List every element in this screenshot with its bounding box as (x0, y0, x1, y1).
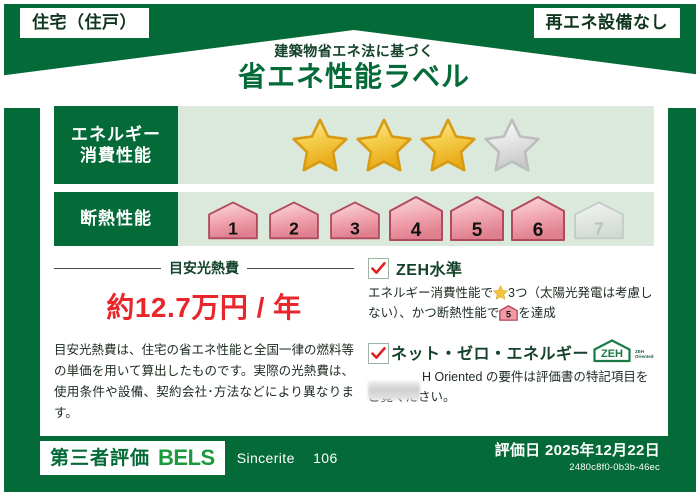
zeh-oriented-line2: Oriented (635, 354, 654, 359)
tag-building-type: 住宅（住戸） (20, 8, 149, 38)
claim-net-zero-title: ネット・ゼロ・エネルギー (391, 340, 589, 364)
evaluation-date: 評価日 2025年12月22日 (495, 443, 660, 460)
star-rating (178, 106, 654, 184)
energy-performance-row: エネルギー 消費性能 (54, 106, 654, 184)
star-empty-icon (483, 117, 541, 173)
claim-zeh-text-1: エネルギー消費性能で (368, 286, 493, 300)
energy-performance-label: 住宅（住戸） 再エネ設備なし 建築物省エネ法に基づく 省エネ性能ラベル エネルギ… (0, 0, 700, 496)
insulation-level-filled: 1 (204, 196, 262, 242)
checkbox-net-zero-energy[interactable] (368, 343, 389, 364)
tag-renewable-equipment: 再エネ設備なし (534, 8, 681, 38)
svg-text:4: 4 (411, 220, 422, 241)
insulation-level-filled: 4 (387, 194, 445, 244)
insulation-level-empty: 7 (570, 196, 628, 242)
svg-text:6: 6 (533, 220, 544, 241)
checkbox-zeh-standard[interactable] (368, 258, 389, 279)
insulation-level-filled: 2 (265, 196, 323, 242)
utility-cost-block: 目安光熱費 約12.7万円 / 年 目安光熱費は、住宅の省エネ性能と全国一律の燃… (54, 254, 354, 404)
inline-star-icon (493, 285, 508, 300)
evaluation-date-label: 評価日 (495, 442, 541, 459)
claim-zeh-text-3: を達成 (518, 306, 556, 320)
redacted-region (368, 381, 420, 400)
utility-cost-heading-text: 目安光熱費 (169, 258, 239, 278)
star-filled-icon (419, 117, 477, 173)
insulation-level-filled: 6 (509, 194, 567, 244)
energy-label-line1: エネルギー (71, 124, 161, 145)
zeh-logo-icon: ZEH (591, 338, 633, 364)
bels-badge-en-label: BELS (158, 447, 215, 469)
bels-badge-jp-label: 第三者評価 (50, 449, 150, 468)
svg-text:1: 1 (228, 219, 238, 239)
evaluation-id: 2480c8f0-0b3b-46ec (495, 462, 660, 473)
builder-name: Sincerite (237, 450, 295, 466)
claim-zeh-standard-title: ZEH水準 (396, 256, 463, 280)
claims-block: ZEH水準 エネルギー消費性能で3つ（太陽光発電は考慮しない）、かつ断熱性能で5… (354, 254, 654, 404)
bels-badge: 第三者評価 BELS (40, 441, 225, 475)
rule-right (247, 268, 354, 269)
svg-text:ZEH: ZEH (601, 348, 623, 360)
star-filled-icon (355, 117, 413, 173)
energy-label-line2: 消費性能 (80, 145, 152, 166)
utility-cost-heading: 目安光熱費 (54, 258, 354, 278)
claim-zeh-standard: ZEH水準 エネルギー消費性能で3つ（太陽光発電は考慮しない）、かつ断熱性能で5… (368, 256, 654, 324)
claim-zeh-standard-head: ZEH水準 (368, 256, 654, 280)
svg-text:2: 2 (289, 219, 299, 239)
insulation-level-scale: 1234567 (178, 192, 654, 246)
utility-cost-amount: 約12.7万円 / 年 (54, 286, 354, 326)
insulation-label-text: 断熱性能 (80, 208, 152, 229)
lower-section: 目安光熱費 約12.7万円 / 年 目安光熱費は、住宅の省エネ性能と全国一律の燃… (54, 254, 654, 404)
insulation-performance-row: 断熱性能 1234567 (54, 192, 654, 246)
label-card: エネルギー 消費性能 断熱性能 1234567 目安光熱費 約12.7万円 / … (40, 96, 668, 436)
evaluation-info: 評価日 2025年12月22日 2480c8f0-0b3b-46ec (495, 443, 660, 473)
svg-text:3: 3 (350, 219, 360, 239)
insulation-level-filled: 3 (326, 196, 384, 242)
svg-text:5: 5 (506, 310, 511, 320)
utility-cost-note: 目安光熱費は、住宅の省エネ性能と全国一律の燃料等の単価を用いて算出したものです。… (54, 340, 354, 424)
star-filled-icon (291, 117, 349, 173)
zeh-oriented-caption: ZEH Oriented (635, 350, 654, 363)
rule-left (54, 268, 161, 269)
svg-text:5: 5 (472, 220, 483, 241)
evaluation-date-value: 2025年12月22日 (545, 442, 660, 459)
inline-house-badge-icon: 5 (499, 305, 518, 321)
insulation-performance-label: 断熱性能 (54, 192, 178, 246)
insulation-level-filled: 5 (448, 194, 506, 244)
footer: 第三者評価 BELS Sincerite 106 評価日 2025年12月22日… (40, 438, 660, 478)
svg-text:7: 7 (594, 219, 604, 239)
energy-performance-label: エネルギー 消費性能 (54, 106, 178, 184)
claim-net-zero-head: ネット・ゼロ・エネルギー ZEH ZEH Oriented (368, 338, 654, 364)
claim-zeh-standard-body: エネルギー消費性能で3つ（太陽光発電は考慮しない）、かつ断熱性能で5を達成 (368, 283, 654, 324)
claim-net-zero-energy: ネット・ゼロ・エネルギー ZEH ZEH Oriented (368, 338, 654, 408)
claim-net-zero-body: H Oriented の要件は評価書の特記項目をご覧ください。 (368, 367, 654, 408)
unit-number: 106 (313, 450, 338, 466)
builder-info: Sincerite 106 (237, 450, 338, 466)
